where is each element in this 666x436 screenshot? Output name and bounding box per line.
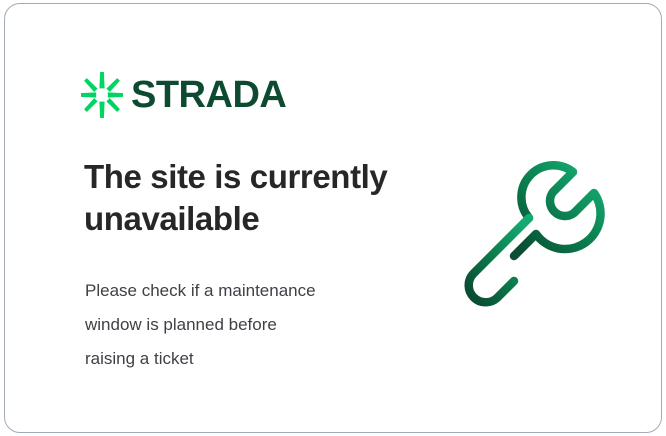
- brand-wordmark: STRADA: [131, 76, 286, 114]
- strada-asterisk-icon: [81, 72, 123, 118]
- description-line: window is planned before: [85, 308, 405, 342]
- page-description: Please check if a maintenance window is …: [85, 274, 405, 376]
- wrench-icon: [457, 156, 617, 316]
- description-line: raising a ticket: [85, 342, 405, 376]
- page-title: The site is currently unavailable: [84, 156, 424, 239]
- error-page: STRADA The site is currently unavailable…: [0, 0, 666, 436]
- status-card: STRADA The site is currently unavailable…: [4, 3, 662, 433]
- description-line: Please check if a maintenance: [85, 274, 405, 308]
- brand-lockup: STRADA: [81, 72, 286, 118]
